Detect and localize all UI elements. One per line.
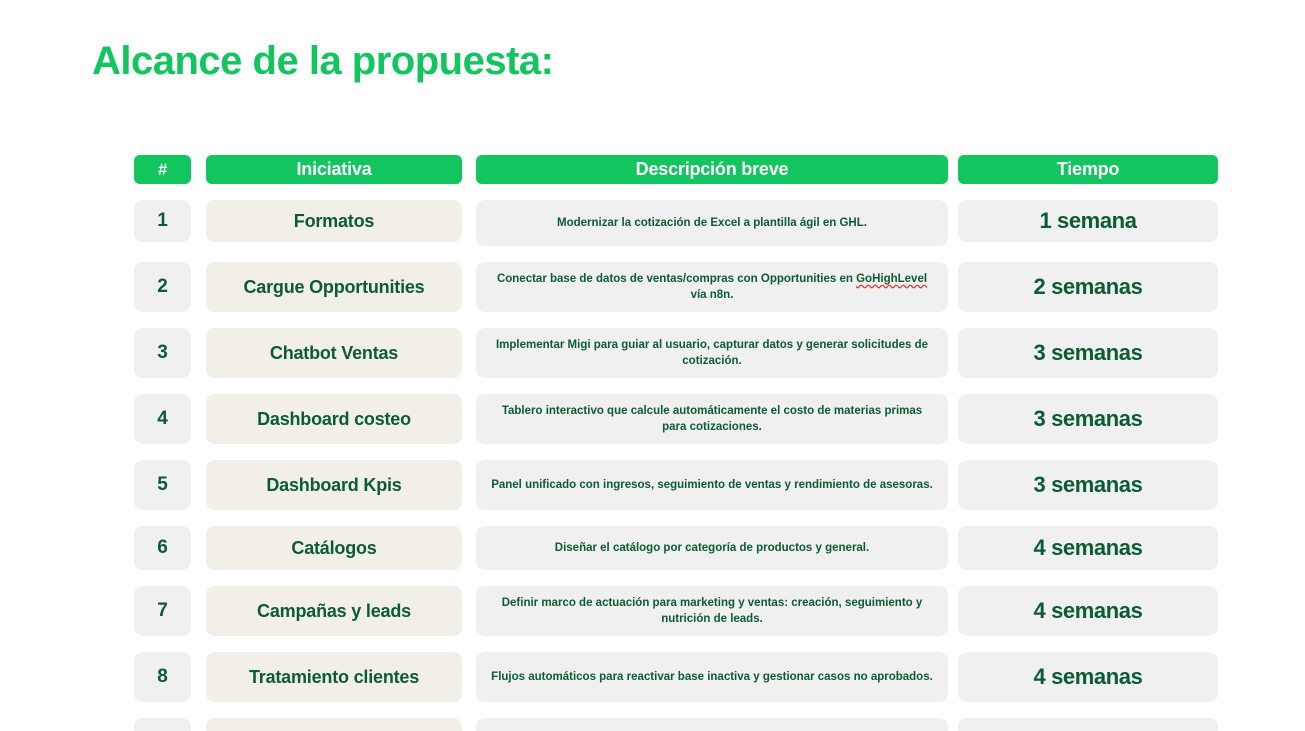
- row-initiative: Chatbot Ventas: [262, 343, 406, 364]
- row-initiative-cell: Cargue Opportunities: [206, 262, 462, 312]
- table-row: 2 Cargue Opportunities Conectar base de …: [134, 262, 1218, 312]
- row-number: 2: [157, 276, 168, 298]
- row-time-cell: 4 semanas: [958, 586, 1218, 636]
- row-description: Conectar base de datos de ventas/compras…: [476, 265, 948, 310]
- row-number: 5: [157, 474, 168, 496]
- row-number: 4: [157, 408, 168, 430]
- table-row: 8 Tratamiento clientes Flujos automático…: [134, 652, 1218, 702]
- row-initiative-cell: Tratamiento clientes: [206, 652, 462, 702]
- row-time: 4 semanas: [1034, 598, 1143, 624]
- row-number-cell: 3: [134, 328, 191, 378]
- row-number-cell: 9: [134, 718, 191, 731]
- row-initiative: Campañas y leads: [249, 601, 419, 622]
- row-time-cell: 4 semanas: [958, 526, 1218, 570]
- desc-misspelled-word: GoHighLevel: [856, 273, 927, 285]
- table-row: 5 Dashboard Kpis Panel unificado con ing…: [134, 460, 1218, 510]
- table-row: 9 Asistentes virtuales Bots que gestione…: [134, 718, 1218, 731]
- row-description-cell: Conectar base de datos de ventas/compras…: [476, 262, 948, 312]
- row-time: 3 semanas: [1034, 472, 1143, 498]
- column-header-time: Tiempo: [958, 155, 1218, 184]
- row-description: Implementar Migi para guiar al usuario, …: [476, 331, 948, 376]
- row-description-cell: Bots que gestionen orden de producción, …: [476, 718, 948, 731]
- table-row: 4 Dashboard costeo Tablero interactivo q…: [134, 394, 1218, 444]
- row-time-cell: 3 semanas: [958, 460, 1218, 510]
- row-initiative: Cargue Opportunities: [235, 277, 432, 298]
- row-number: 3: [157, 342, 168, 364]
- row-description-cell: Diseñar el catálogo por categoría de pro…: [476, 526, 948, 570]
- row-description: Bots que gestionen orden de producción, …: [476, 724, 948, 731]
- row-description-cell: Implementar Migi para guiar al usuario, …: [476, 328, 948, 378]
- row-description-cell: Tablero interactivo que calcule automáti…: [476, 394, 948, 444]
- row-description-cell: Definir marco de actuación para marketin…: [476, 586, 948, 636]
- row-initiative-cell: Dashboard costeo: [206, 394, 462, 444]
- column-header-number: #: [134, 155, 191, 184]
- row-time: 3 semanas: [1034, 340, 1143, 366]
- row-time: 4 semanas: [1034, 664, 1143, 690]
- row-time-cell: 3 semanas: [958, 394, 1218, 444]
- row-number-cell: 1: [134, 200, 191, 242]
- row-description-cell: Flujos automáticos para reactivar base i…: [476, 652, 948, 702]
- row-description: Tablero interactivo que calcule automáti…: [476, 397, 948, 442]
- table-row: 1 Formatos Modernizar la cotización de E…: [134, 200, 1218, 246]
- row-number: 7: [157, 600, 168, 622]
- row-time-cell: 1 semana: [958, 200, 1218, 242]
- table-row: 7 Campañas y leads Definir marco de actu…: [134, 586, 1218, 636]
- row-initiative: Formatos: [286, 211, 382, 232]
- column-header-initiative: Iniciativa: [206, 155, 462, 184]
- row-number-cell: 2: [134, 262, 191, 312]
- table-header-row: # Iniciativa Descripción breve Tiempo: [134, 155, 1218, 184]
- row-description: Flujos automáticos para reactivar base i…: [477, 663, 947, 691]
- row-description: Modernizar la cotización de Excel a plan…: [543, 209, 881, 237]
- row-time-cell: 3 semanas: [958, 328, 1218, 378]
- row-time: 3 semanas: [1034, 406, 1143, 432]
- desc-part-pre: Conectar base de datos de ventas/compras…: [497, 273, 856, 285]
- row-initiative-cell: Campañas y leads: [206, 586, 462, 636]
- slide-root: Alcance de la propuesta: # Iniciativa De…: [0, 0, 1305, 731]
- row-initiative: Catálogos: [283, 538, 384, 559]
- row-number-cell: 8: [134, 652, 191, 702]
- row-initiative: Dashboard Kpis: [258, 475, 409, 496]
- row-time-cell: 4 semanas: [958, 652, 1218, 702]
- row-description: Diseñar el catálogo por categoría de pro…: [541, 534, 883, 562]
- row-initiative-cell: Formatos: [206, 200, 462, 242]
- row-number: 8: [157, 666, 168, 688]
- row-initiative-cell: Asistentes virtuales: [206, 718, 462, 731]
- row-description-cell: Modernizar la cotización de Excel a plan…: [476, 200, 948, 246]
- row-initiative-cell: Dashboard Kpis: [206, 460, 462, 510]
- row-number: 6: [157, 537, 168, 559]
- row-description-cell: Panel unificado con ingresos, seguimient…: [476, 460, 948, 510]
- row-number-cell: 7: [134, 586, 191, 636]
- row-number-cell: 5: [134, 460, 191, 510]
- row-number: 1: [157, 210, 168, 232]
- row-number-cell: 4: [134, 394, 191, 444]
- row-time-cell: 8 semanas: [958, 718, 1218, 731]
- table-row: 3 Chatbot Ventas Implementar Migi para g…: [134, 328, 1218, 378]
- table-row: 6 Catálogos Diseñar el catálogo por cate…: [134, 526, 1218, 570]
- row-time: 1 semana: [1039, 208, 1136, 234]
- row-description: Panel unificado con ingresos, seguimient…: [477, 471, 947, 499]
- row-initiative: Dashboard costeo: [249, 409, 419, 430]
- column-header-description: Descripción breve: [476, 155, 948, 184]
- row-number-cell: 6: [134, 526, 191, 570]
- row-initiative-cell: Chatbot Ventas: [206, 328, 462, 378]
- desc-part-post: vía n8n.: [691, 289, 734, 301]
- row-description: Definir marco de actuación para marketin…: [476, 589, 948, 634]
- scope-table: # Iniciativa Descripción breve Tiempo 1 …: [134, 155, 1218, 731]
- row-initiative-cell: Catálogos: [206, 526, 462, 570]
- row-initiative: Tratamiento clientes: [241, 667, 427, 688]
- page-title: Alcance de la propuesta:: [92, 38, 553, 84]
- row-time: 2 semanas: [1034, 274, 1143, 300]
- row-time: 4 semanas: [1034, 535, 1143, 561]
- row-time-cell: 2 semanas: [958, 262, 1218, 312]
